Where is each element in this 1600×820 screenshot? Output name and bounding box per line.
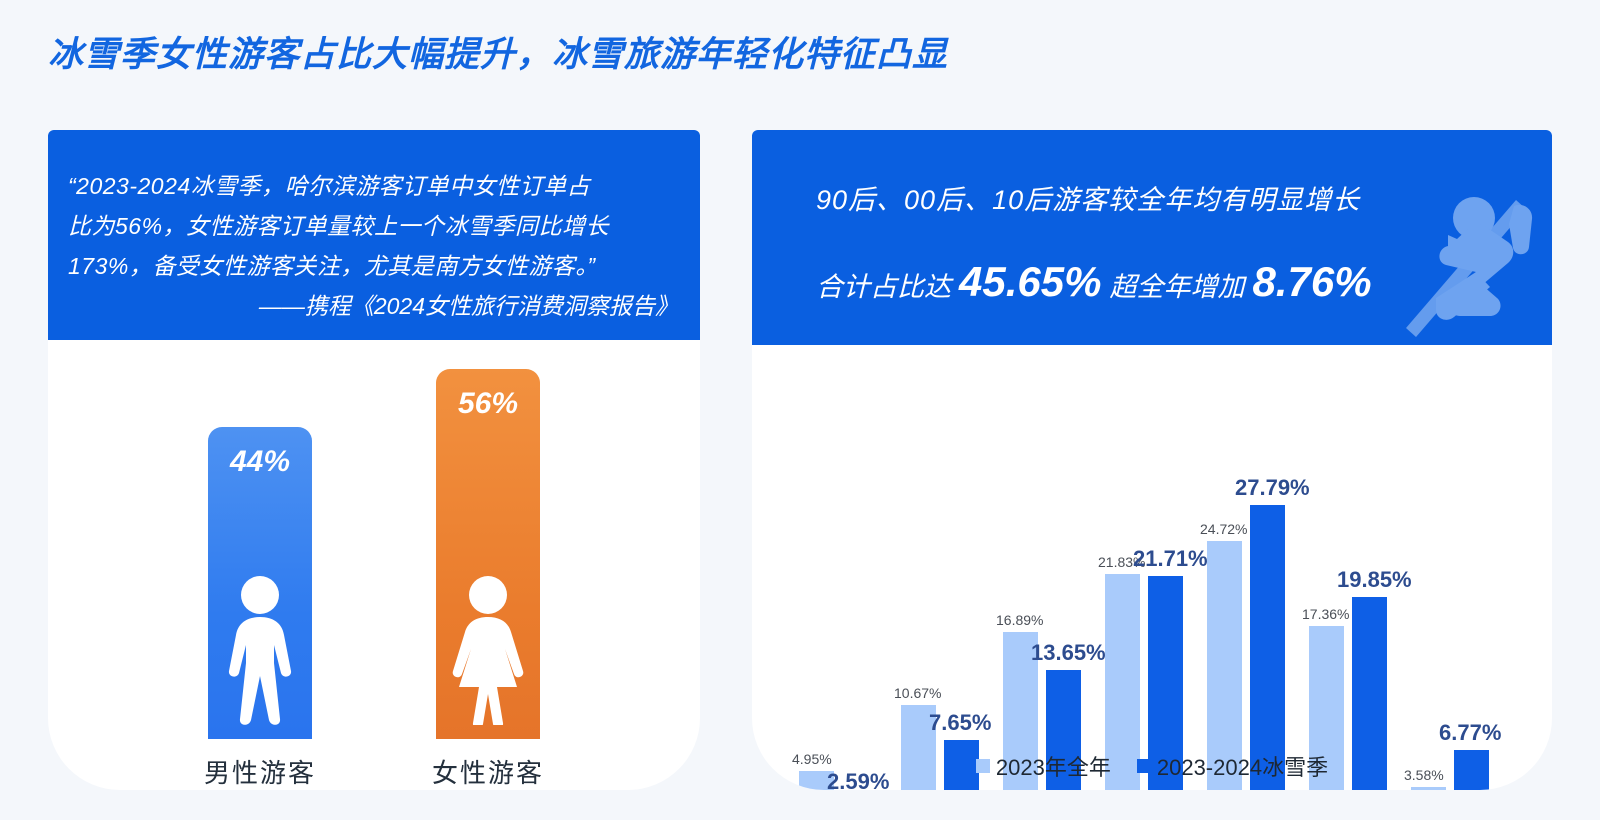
gender-comparison: 44% 男性游客 56%: [48, 340, 700, 790]
bar-label-light: 17.36%: [1302, 606, 1349, 622]
bar-label-dark: 21.71%: [1133, 546, 1208, 572]
banner-prefix: 合计占比达: [816, 265, 951, 304]
slide-root: 冰雪季女性游客占比大幅提升，冰雪旅游年轻化特征凸显 “2023-2024冰雪季，…: [0, 0, 1600, 820]
snowboarder-icon: [1396, 178, 1546, 345]
male-value: 44%: [208, 445, 312, 479]
quote-line-1: “2023-2024冰雪季，哈尔滨游客订单中女性订单占: [68, 166, 682, 206]
bar-group: 10.67%7.65%60后: [898, 409, 984, 790]
right-banner: 90后、00后、10后游客较全年均有明显增长 合计占比达 45.65% 超全年增…: [752, 130, 1552, 345]
right-card: 90后、00后、10后游客较全年均有明显增长 合计占比达 45.65% 超全年增…: [752, 130, 1552, 790]
bar-label-light: 24.72%: [1200, 521, 1247, 537]
bar-group: 24.72%27.79%90后: [1204, 409, 1290, 790]
bar-label-dark: 19.85%: [1337, 567, 1412, 593]
bar-group: 16.89%13.65%70后: [1000, 409, 1086, 790]
bar-group: 3.58%6.77%10后: [1408, 409, 1494, 790]
quote-line-3: 173%，备受女性游客关注，尤其是南方女性游客。”: [68, 246, 682, 286]
bar-dark: [1250, 505, 1285, 790]
chart-legend: 2023年全年 2023-2024冰雪季: [752, 750, 1552, 782]
bar-group: 17.36%19.85%00后: [1306, 409, 1392, 790]
banner-mid: 超全年增加: [1109, 265, 1244, 304]
bar-label-light: 16.89%: [996, 612, 1043, 628]
left-card: “2023-2024冰雪季，哈尔滨游客订单中女性订单占 比为56%，女性游客订单…: [48, 130, 700, 790]
legend-label-0: 2023年全年: [996, 750, 1111, 782]
female-figure-icon: [436, 575, 540, 725]
legend-swatch-light: [976, 759, 990, 773]
female-bar: 56%: [436, 369, 540, 739]
bar-light: [1411, 787, 1446, 790]
male-figure-icon: [208, 575, 312, 725]
quote-banner: “2023-2024冰雪季，哈尔滨游客订单中女性订单占 比为56%，女性游客订单…: [48, 130, 700, 340]
female-label: 女性游客: [388, 753, 588, 790]
legend-label-1: 2023-2024冰雪季: [1157, 750, 1328, 782]
banner-line-1: 90后、00后、10后游客较全年均有明显增长: [816, 178, 1360, 217]
banner-value-total: 45.65%: [959, 258, 1101, 306]
bar-label-dark: 7.65%: [929, 710, 991, 736]
bar-label-dark: 27.79%: [1235, 475, 1310, 501]
legend-swatch-dark: [1137, 759, 1151, 773]
female-value: 56%: [436, 387, 540, 421]
bar-label-light: 10.67%: [894, 685, 941, 701]
female-column: 56% 女性游客: [388, 369, 588, 790]
male-column: 44% 男性游客: [160, 427, 360, 790]
bar-group: 4.95%2.59%60前: [796, 409, 882, 790]
male-label: 男性游客: [160, 753, 360, 790]
age-distribution-chart: 4.95%2.59%60前10.67%7.65%60后16.89%13.65%7…: [752, 345, 1552, 790]
legend-item-0: 2023年全年: [976, 750, 1111, 782]
bar-group: 21.83%21.71%80后: [1102, 409, 1188, 790]
page-title: 冰雪季女性游客占比大幅提升，冰雪旅游年轻化特征凸显: [48, 26, 948, 77]
male-bar: 44%: [208, 427, 312, 739]
legend-item-1: 2023-2024冰雪季: [1137, 750, 1328, 782]
bar-label-dark: 13.65%: [1031, 640, 1106, 666]
quote-source: ——携程《2024女性旅行消费洞察报告》: [68, 286, 682, 326]
banner-value-delta: 8.76%: [1252, 258, 1371, 306]
quote-line-2: 比为56%，女性游客订单量较上一个冰雪季同比增长: [68, 206, 682, 246]
bar-label-dark: 6.77%: [1439, 720, 1501, 746]
banner-line-2: 合计占比达 45.65% 超全年增加 8.76%: [816, 258, 1372, 306]
chart-plot-area: 4.95%2.59%60前10.67%7.65%60后16.89%13.65%7…: [770, 351, 1534, 790]
